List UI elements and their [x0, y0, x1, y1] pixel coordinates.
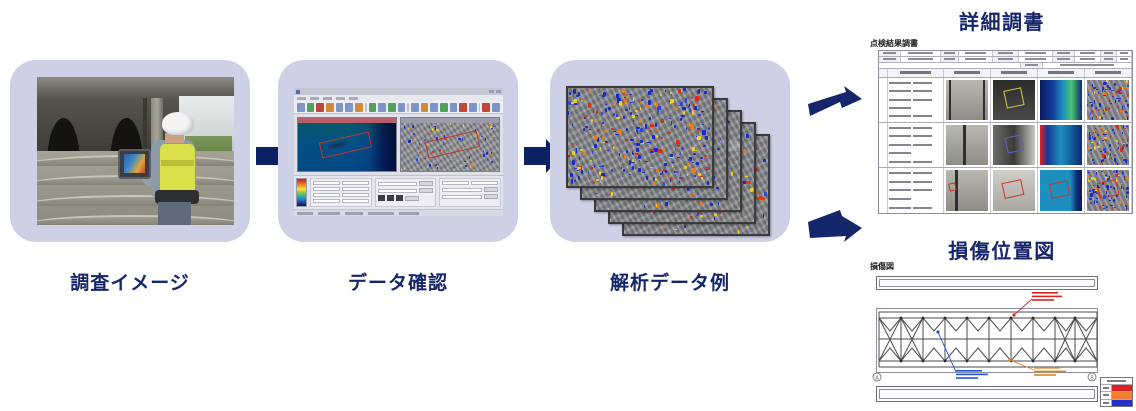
- output-heading-damage-diagram: 損傷位置図: [868, 235, 1136, 264]
- legend-label: [1101, 400, 1112, 406]
- field[interactable]: [342, 193, 369, 197]
- thermal-view[interactable]: [297, 117, 397, 172]
- cell-thermal: [1038, 168, 1085, 213]
- status-text: [368, 212, 394, 215]
- tablet-screen: [124, 154, 145, 173]
- header-cell: [1043, 63, 1132, 68]
- header-cell: [879, 63, 1021, 68]
- tablet-device: [118, 149, 151, 179]
- cell-analysis: [1085, 123, 1132, 167]
- view-title-detection: [401, 118, 499, 123]
- toolbar-icon[interactable]: [469, 103, 477, 112]
- damage-doc-title: 損傷図: [870, 261, 894, 272]
- cell-dark-photo: [991, 168, 1038, 213]
- header-cell: [941, 51, 959, 56]
- header-cell: [1101, 51, 1117, 56]
- output-heading-detailed-report: 詳細調書: [868, 6, 1136, 35]
- field[interactable]: [313, 193, 340, 197]
- status-text: [318, 212, 340, 215]
- cell-photo: [944, 123, 991, 167]
- toolbar-icon[interactable]: [297, 103, 305, 112]
- row-metadata: [888, 123, 944, 167]
- row-index: [879, 168, 888, 213]
- field[interactable]: [342, 199, 369, 203]
- header-cell: [959, 57, 993, 62]
- analysis-thumbnail: [1087, 80, 1129, 120]
- status-text: [297, 212, 313, 215]
- header-cell: [1019, 57, 1053, 62]
- button[interactable]: [419, 188, 433, 193]
- header-cell: [1117, 51, 1132, 56]
- header-cell: [1019, 51, 1053, 56]
- arrow-stage3-to-report: [806, 86, 864, 132]
- minimize-button[interactable]: [489, 90, 494, 93]
- toolbar-icon[interactable]: [459, 103, 467, 112]
- menu-item[interactable]: [297, 97, 306, 100]
- legend-row: [1101, 385, 1132, 392]
- header-cell: [1101, 57, 1117, 62]
- icon-button[interactable]: [378, 195, 385, 201]
- cell-thermal: [1038, 78, 1085, 122]
- table-row[interactable]: [879, 123, 1132, 168]
- header-cell: [879, 51, 901, 56]
- toolbar[interactable]: [294, 101, 503, 114]
- toolbar-icon[interactable]: [398, 103, 406, 112]
- legend-header-row: [1101, 378, 1132, 385]
- stage-panel-survey-image: [10, 60, 250, 242]
- photo-thumbnail: [946, 170, 988, 211]
- header-cell: [993, 51, 1019, 56]
- toolbar-icon[interactable]: [411, 103, 419, 112]
- control-group-filter[interactable]: [375, 178, 437, 207]
- inspector-figure: [136, 110, 207, 225]
- toolbar-icon[interactable]: [430, 103, 438, 112]
- header-cell: [901, 57, 941, 62]
- photo-thumbnail: [993, 170, 1035, 211]
- stage-label-analysis-data: 解析データ例: [550, 268, 790, 295]
- field[interactable]: [378, 182, 418, 186]
- status-bar: [294, 209, 503, 216]
- toolbar-separator: [407, 103, 409, 112]
- row-metadata: [888, 78, 944, 122]
- field[interactable]: [442, 188, 482, 192]
- photo-thumbnail: [946, 125, 988, 165]
- toolbar-icon[interactable]: [355, 103, 363, 112]
- control-group-analysis[interactable]: [439, 178, 501, 207]
- header-cell: [1053, 57, 1075, 62]
- toolbar-icon[interactable]: [307, 103, 315, 112]
- legend-swatch-orange: [1112, 392, 1132, 398]
- cell-analysis: [1085, 168, 1132, 213]
- column-header-thermal: [1038, 69, 1085, 77]
- button[interactable]: [484, 194, 498, 199]
- column-header-index: [879, 69, 888, 77]
- legs: [158, 202, 191, 225]
- damage-legend-table: [1100, 377, 1133, 407]
- arrow-stage1-to-stage2: [256, 147, 278, 165]
- column-header-meta: [888, 69, 944, 77]
- header-cell: [1021, 63, 1043, 68]
- stage-panel-analysis-data: [550, 60, 790, 242]
- row-index: [879, 123, 888, 167]
- report-doc-title: 点検結果調書: [870, 38, 918, 49]
- callout-red: [1010, 291, 1062, 317]
- menu-item[interactable]: [310, 97, 319, 100]
- header-cell: [879, 57, 901, 62]
- legend-label: [1101, 385, 1112, 391]
- window-titlebar: [294, 88, 503, 95]
- menu-item[interactable]: [336, 97, 345, 100]
- table-row[interactable]: [879, 168, 1132, 213]
- colorbar: [296, 178, 307, 207]
- view-title-thermal: [298, 118, 396, 123]
- menu-item[interactable]: [323, 97, 332, 100]
- button[interactable]: [405, 196, 419, 201]
- control-group-scale[interactable]: [310, 178, 372, 207]
- field-inspection-photo: [37, 77, 234, 225]
- close-button[interactable]: [496, 90, 501, 93]
- thermal-thumbnail: [1040, 170, 1082, 211]
- header-cell: [901, 51, 941, 56]
- toolbar-icon[interactable]: [316, 103, 324, 112]
- field[interactable]: [442, 195, 482, 199]
- field[interactable]: [313, 199, 340, 203]
- toolbar-separator: [365, 103, 367, 112]
- toolbar-separator: [479, 103, 481, 112]
- toolbar-icon[interactable]: [378, 103, 386, 112]
- header-cell: [1075, 51, 1101, 56]
- status-text: [345, 212, 363, 215]
- control-panel[interactable]: [294, 175, 503, 209]
- thermal-thumbnail: [1040, 125, 1082, 165]
- header-cell: [1117, 57, 1132, 62]
- stage-label-data-check: データ確認: [278, 268, 518, 295]
- dark-photo-thumbnail: [993, 125, 1035, 165]
- legend-label: [1101, 392, 1112, 398]
- column-header-analysis: [1085, 69, 1132, 77]
- arrow-stage2-to-stage3: [524, 147, 546, 165]
- analysis-software-window: [294, 88, 503, 216]
- analysis-sheet-top: [566, 86, 714, 188]
- app-icon: [296, 90, 300, 94]
- legend-title: [1101, 378, 1132, 384]
- icon-button[interactable]: [396, 195, 403, 201]
- arrow-stage3-to-damage-diagram: [806, 208, 864, 254]
- row-index: [879, 78, 888, 122]
- cell-photo: [944, 168, 991, 213]
- toolbar-icon[interactable]: [482, 103, 490, 112]
- column-header-dark-photo: [991, 69, 1038, 77]
- field[interactable]: [342, 181, 369, 185]
- header-cell: [959, 51, 993, 56]
- vest-stripe: [161, 160, 194, 166]
- legend-row: [1101, 392, 1132, 399]
- stage-panel-data-check: [278, 60, 518, 242]
- helmet-icon: [162, 112, 193, 135]
- table-row[interactable]: [879, 78, 1132, 123]
- zoom-icon[interactable]: [336, 103, 344, 112]
- column-header-photo: [944, 69, 991, 77]
- field[interactable]: [442, 181, 469, 185]
- cell-analysis: [1085, 78, 1132, 122]
- field[interactable]: [313, 181, 340, 185]
- analysis-thumbnail: [1087, 170, 1129, 211]
- icon-button[interactable]: [387, 195, 394, 201]
- legend-swatch-red: [1112, 385, 1132, 391]
- field[interactable]: [378, 189, 418, 193]
- photo-thumbnail: [946, 80, 988, 120]
- header-cell: [941, 57, 959, 62]
- toolbar-icon[interactable]: [369, 103, 377, 112]
- detection-view[interactable]: [400, 117, 500, 172]
- toolbar-icon[interactable]: [388, 103, 396, 112]
- toolbar-icon[interactable]: [421, 103, 429, 112]
- header-cell: [1075, 57, 1101, 62]
- callout-blue: [930, 330, 992, 386]
- deck-rail-bottom: [876, 386, 1098, 402]
- cell-dark-photo: [991, 123, 1038, 167]
- toolbar-icon[interactable]: [345, 103, 353, 112]
- toolbar-icon[interactable]: [326, 103, 334, 112]
- thermal-thumbnail: [1040, 80, 1082, 120]
- status-text: [399, 212, 419, 215]
- toolbar-icon[interactable]: [492, 103, 500, 112]
- deck-rail-top: [876, 276, 1098, 290]
- report-column-header: [879, 69, 1132, 78]
- field[interactable]: [313, 187, 340, 191]
- dark-photo-thumbnail: [993, 80, 1035, 120]
- safety-vest: [160, 144, 195, 192]
- button[interactable]: [419, 181, 433, 186]
- menu-item[interactable]: [349, 97, 358, 100]
- workflow-diagram: 調査イメージ: [0, 0, 1136, 411]
- callout-orange: [1008, 358, 1070, 384]
- field[interactable]: [342, 187, 369, 191]
- legend-swatch-blue: [1112, 400, 1132, 406]
- row-metadata: [888, 168, 944, 213]
- stage-label-survey-image: 調査イメージ: [10, 268, 250, 295]
- cell-photo: [944, 78, 991, 122]
- toolbar-icon[interactable]: [450, 103, 458, 112]
- cell-dark-photo: [991, 78, 1038, 122]
- header-cell: [1053, 51, 1075, 56]
- toolbar-icon[interactable]: [440, 103, 448, 112]
- bearing-symbol-right: B: [1086, 372, 1098, 382]
- button[interactable]: [484, 187, 498, 192]
- header-cell: [993, 57, 1019, 62]
- field[interactable]: [471, 181, 498, 185]
- bearing-symbol-left: A: [871, 372, 883, 382]
- inspection-result-report-table[interactable]: [878, 50, 1133, 214]
- legend-row: [1101, 400, 1132, 406]
- cell-thermal: [1038, 123, 1085, 167]
- analysis-thumbnail: [1087, 125, 1129, 165]
